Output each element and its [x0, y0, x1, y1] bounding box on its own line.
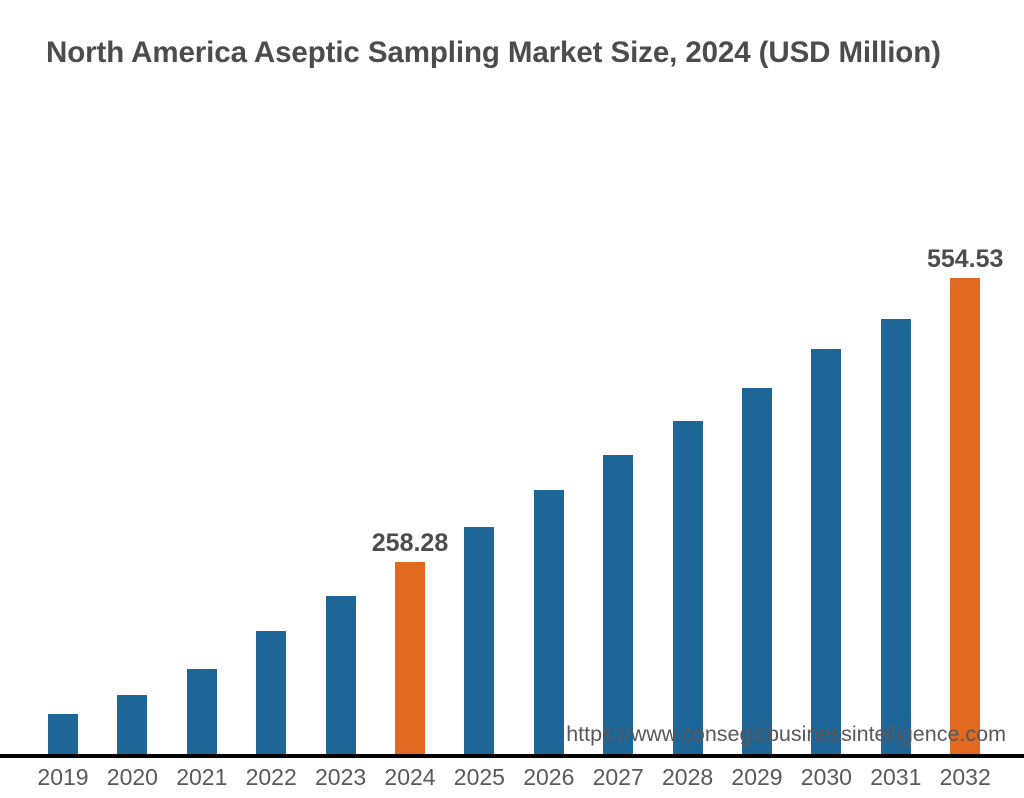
tick-label-2022: 2022 [236, 764, 306, 791]
source-url-text: https://www.consegicbusinessintelligence… [566, 722, 1006, 747]
bar-2031 [881, 319, 911, 754]
chart-title: North America Aseptic Sampling Market Si… [46, 36, 941, 70]
tick-label-2030: 2030 [791, 764, 861, 791]
tick-label-2024: 2024 [375, 764, 445, 791]
bar-2020 [117, 695, 147, 754]
tick-label-2019: 2019 [28, 764, 98, 791]
tick-label-2025: 2025 [444, 764, 514, 791]
tick-label-2023: 2023 [306, 764, 376, 791]
bar-2028 [673, 421, 703, 754]
tick-label-2020: 2020 [97, 764, 167, 791]
bar-2029 [742, 388, 772, 754]
bar-2019 [48, 714, 78, 754]
bar-2030 [811, 349, 841, 754]
chart-figure: North America Aseptic Sampling Market Si… [0, 0, 1024, 768]
bar-2021 [187, 669, 217, 754]
tick-label-2029: 2029 [722, 764, 792, 791]
bar-series [0, 100, 1024, 754]
bar-2024 [395, 562, 425, 754]
tick-label-2027: 2027 [583, 764, 653, 791]
x-axis-tick-labels: 2019202020212022202320242025202620272028… [0, 758, 1024, 798]
bar-2027 [603, 455, 633, 754]
bar-2023 [326, 596, 356, 754]
bar-2032 [950, 278, 980, 754]
tick-label-2021: 2021 [167, 764, 237, 791]
tick-label-2031: 2031 [861, 764, 931, 791]
tick-label-2026: 2026 [514, 764, 584, 791]
tick-label-2032: 2032 [930, 764, 1000, 791]
bar-2025 [464, 527, 494, 754]
plot-area: 258.28554.53 201920202021202220232024202… [0, 100, 1024, 656]
tick-label-2028: 2028 [653, 764, 723, 791]
data-label-2032: 554.53 [895, 245, 1024, 274]
bar-2026 [534, 490, 564, 754]
data-label-2024: 258.28 [340, 529, 480, 558]
bar-2022 [256, 631, 286, 754]
